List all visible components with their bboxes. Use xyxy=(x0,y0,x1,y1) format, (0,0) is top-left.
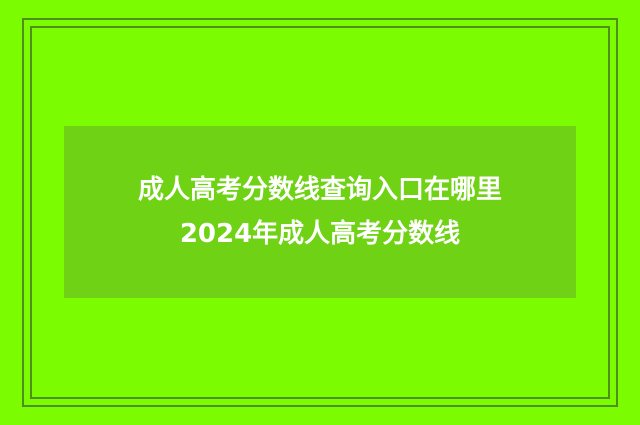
headline-line-2: 2024年成人高考分数线 xyxy=(180,212,460,256)
banner-canvas: 成人高考分数线查询入口在哪里 2024年成人高考分数线 xyxy=(0,0,640,425)
content-panel: 成人高考分数线查询入口在哪里 2024年成人高考分数线 xyxy=(64,126,576,298)
headline-line-1: 成人高考分数线查询入口在哪里 xyxy=(138,168,502,212)
